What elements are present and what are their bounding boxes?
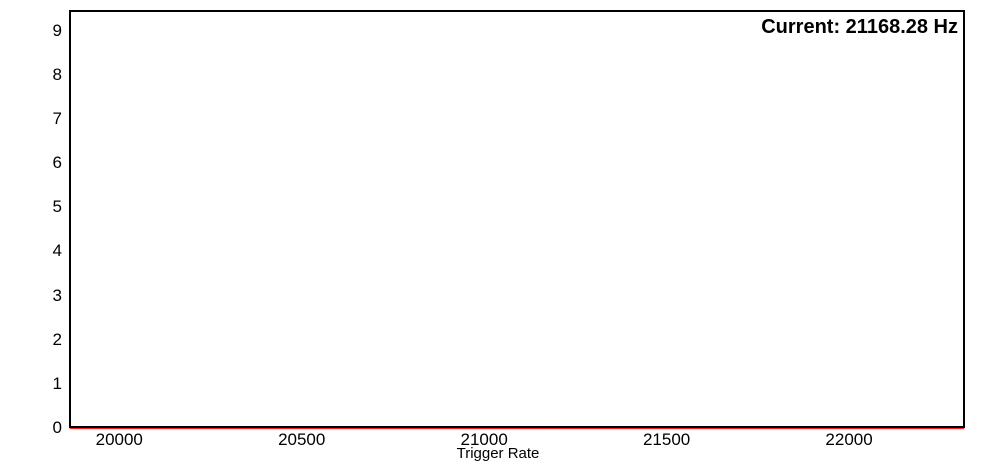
current-value-annotation: Current: 21168.28 Hz [761, 16, 958, 39]
x-axis-title: Trigger Rate [0, 445, 996, 462]
y-tick-label-9: 9 [53, 21, 62, 41]
y-tick-label-8: 8 [53, 65, 62, 85]
y-tick-label-2: 2 [53, 330, 62, 350]
plot-frame [69, 10, 965, 428]
y-tick-label-7: 7 [53, 109, 62, 129]
y-tick-label-4: 4 [53, 241, 62, 261]
y-axis-tick-labels: 0123456789 [0, 0, 62, 472]
y-tick-label-5: 5 [53, 197, 62, 217]
y-tick-label-6: 6 [53, 153, 62, 173]
y-tick-label-1: 1 [53, 374, 62, 394]
y-tick-label-3: 3 [53, 286, 62, 306]
trigger-rate-histogram-panel: 0123456789 2000020500210002150022000 Cur… [0, 0, 996, 472]
y-tick-label-0: 0 [53, 418, 62, 438]
